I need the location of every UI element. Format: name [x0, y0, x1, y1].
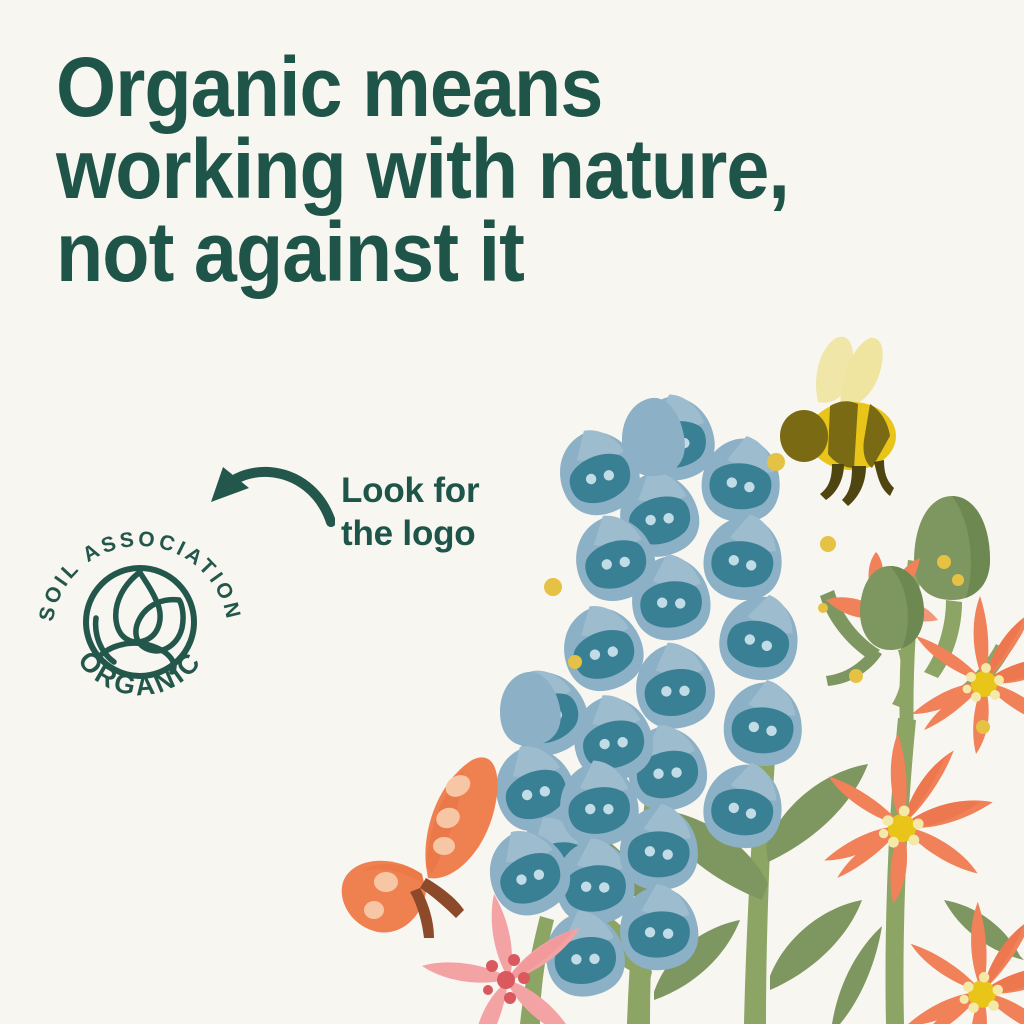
cosmos-flower-right-upper: [912, 596, 1024, 754]
star-flower-pink: [422, 894, 580, 1024]
cosmos-flower-bottom-right: [906, 902, 1024, 1024]
logo-bottom-text: ORGANIC: [72, 645, 207, 701]
cosmos-flower-right-mid: [824, 733, 992, 904]
butterfly-icon: [342, 757, 498, 938]
stems-and-leaves: [520, 560, 1024, 1024]
bumblebee-icon: [780, 337, 896, 506]
headline-line-1: Organic means: [56, 46, 847, 128]
green-bud: [914, 496, 990, 678]
headline-line-3: not against it: [56, 211, 847, 293]
pollen-dots: [544, 453, 990, 734]
soil-association-organic-logo: SOIL ASSOCIATION ORGANIC: [36, 522, 248, 706]
foxglove-flowers: [476, 390, 809, 1001]
callout-text: Look for the logo: [341, 470, 479, 555]
headline-line-2: working with nature,: [56, 128, 847, 210]
headline: Organic means working with nature, not a…: [56, 46, 847, 293]
flower-bud-orange: [826, 552, 938, 708]
poster-canvas: Organic means working with nature, not a…: [0, 0, 1024, 1024]
callout-line-1: Look for: [341, 470, 479, 513]
callout-line-2: the logo: [341, 513, 479, 556]
